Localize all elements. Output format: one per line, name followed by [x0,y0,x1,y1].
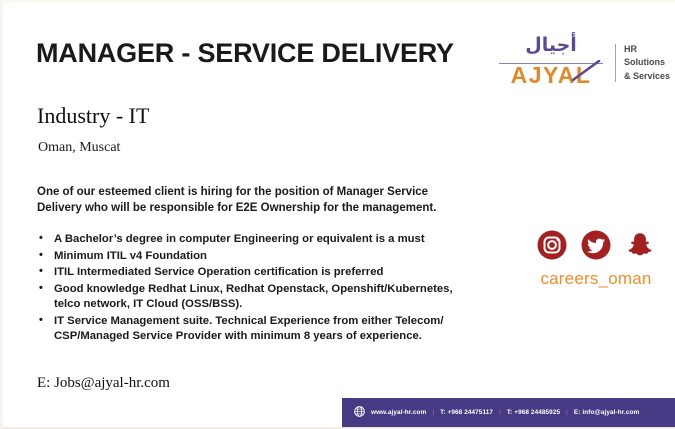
instagram-icon[interactable] [537,230,567,260]
social-block: careers_oman [522,228,670,289]
globe-icon [354,404,365,422]
contact-email[interactable]: E: Jobs@ajyal-hr.com [37,375,170,392]
list-item: ITIL Intermediated Service Operation cer… [37,265,477,281]
footer-items: www.ajyal-hr.com | T: +968 24475117 | T:… [371,409,639,416]
footer-separator: | [566,409,568,416]
list-item: A Bachelor’s degree in computer Engineer… [37,232,477,248]
logo-tagline-line-3: & Services [624,70,670,83]
job-description: One of our esteemed client is hiring for… [37,184,467,217]
list-item: Minimum ITIL v4 Foundation [37,249,477,265]
page-title: MANAGER - SERVICE DELIVERY [36,38,454,69]
footer-separator: | [432,409,434,416]
logo-tagline-line-2: Solutions [624,56,670,69]
requirements-list: A Bachelor’s degree in computer Engineer… [37,232,477,346]
company-logo: أجيال AJYAL HR Solutions & Services [497,38,670,88]
twitter-icon[interactable] [581,230,611,260]
snapchat-icon[interactable] [625,230,655,260]
footer-separator: | [499,409,501,416]
footer-email[interactable]: E: info@ajyal-hr.com [574,409,639,416]
logo-divider [615,44,616,82]
footer-website[interactable]: www.ajyal-hr.com [371,409,426,416]
footer-contact-bar: www.ajyal-hr.com | T: +968 24475117 | T:… [342,398,675,427]
list-item: IT Service Management suite. Technical E… [37,314,477,345]
logo-tagline-line-1: HR [624,43,670,56]
job-posting-poster: MANAGER - SERVICE DELIVERY أجيال AJYAL H… [0,0,675,429]
logo-latin-wordmark: AJYAL [497,63,605,87]
social-icons [522,228,670,262]
list-item: Good knowledge Redhat Linux, Redhat Open… [37,282,477,313]
industry-label: Industry - IT [37,103,149,129]
footer-phone-1: T: +968 24475117 [440,409,493,416]
social-handle: careers_oman [522,269,670,289]
logo-tagline: HR Solutions & Services [624,43,670,82]
logo-mark: أجيال AJYAL [497,38,605,88]
footer-phone-2: T: +968 24485925 [507,409,560,416]
location-label: Oman, Muscat [38,140,120,156]
logo-arabic-wordmark: أجيال [497,36,605,55]
